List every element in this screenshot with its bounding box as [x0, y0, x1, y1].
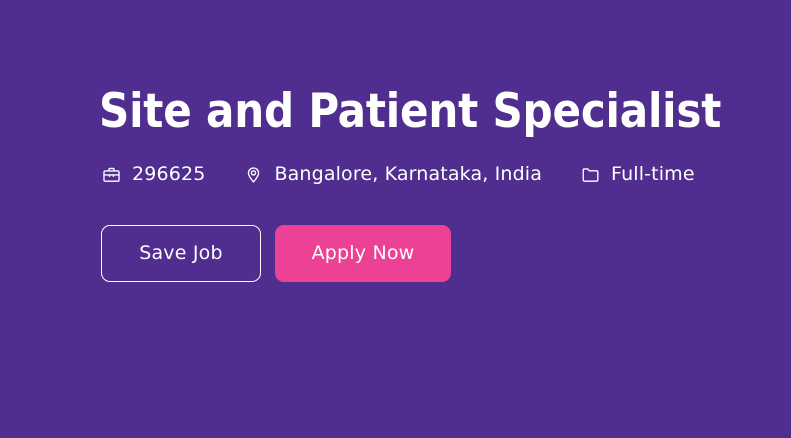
employment-type-value: Full-time	[611, 162, 695, 186]
job-id-value: 296625	[132, 162, 205, 186]
job-meta-employment-type: Full-time	[580, 159, 695, 189]
location-value: Bangalore, Karnataka, India	[274, 162, 542, 186]
page-title: Site and Patient Specialist	[99, 83, 721, 141]
briefcase-icon	[101, 164, 121, 184]
job-meta-location: Bangalore, Karnataka, India	[243, 159, 542, 189]
job-action-row: Save Job Apply Now	[101, 225, 451, 282]
job-meta-row: 296625 Bangalore, Karnataka, India Full-…	[101, 159, 695, 189]
job-meta-job-id: 296625	[101, 159, 205, 189]
map-pin-icon	[243, 164, 263, 184]
job-hero-banner: Site and Patient Specialist 296625	[0, 0, 791, 438]
folder-icon	[580, 164, 600, 184]
save-job-button[interactable]: Save Job	[101, 225, 261, 282]
apply-now-button[interactable]: Apply Now	[275, 225, 451, 282]
